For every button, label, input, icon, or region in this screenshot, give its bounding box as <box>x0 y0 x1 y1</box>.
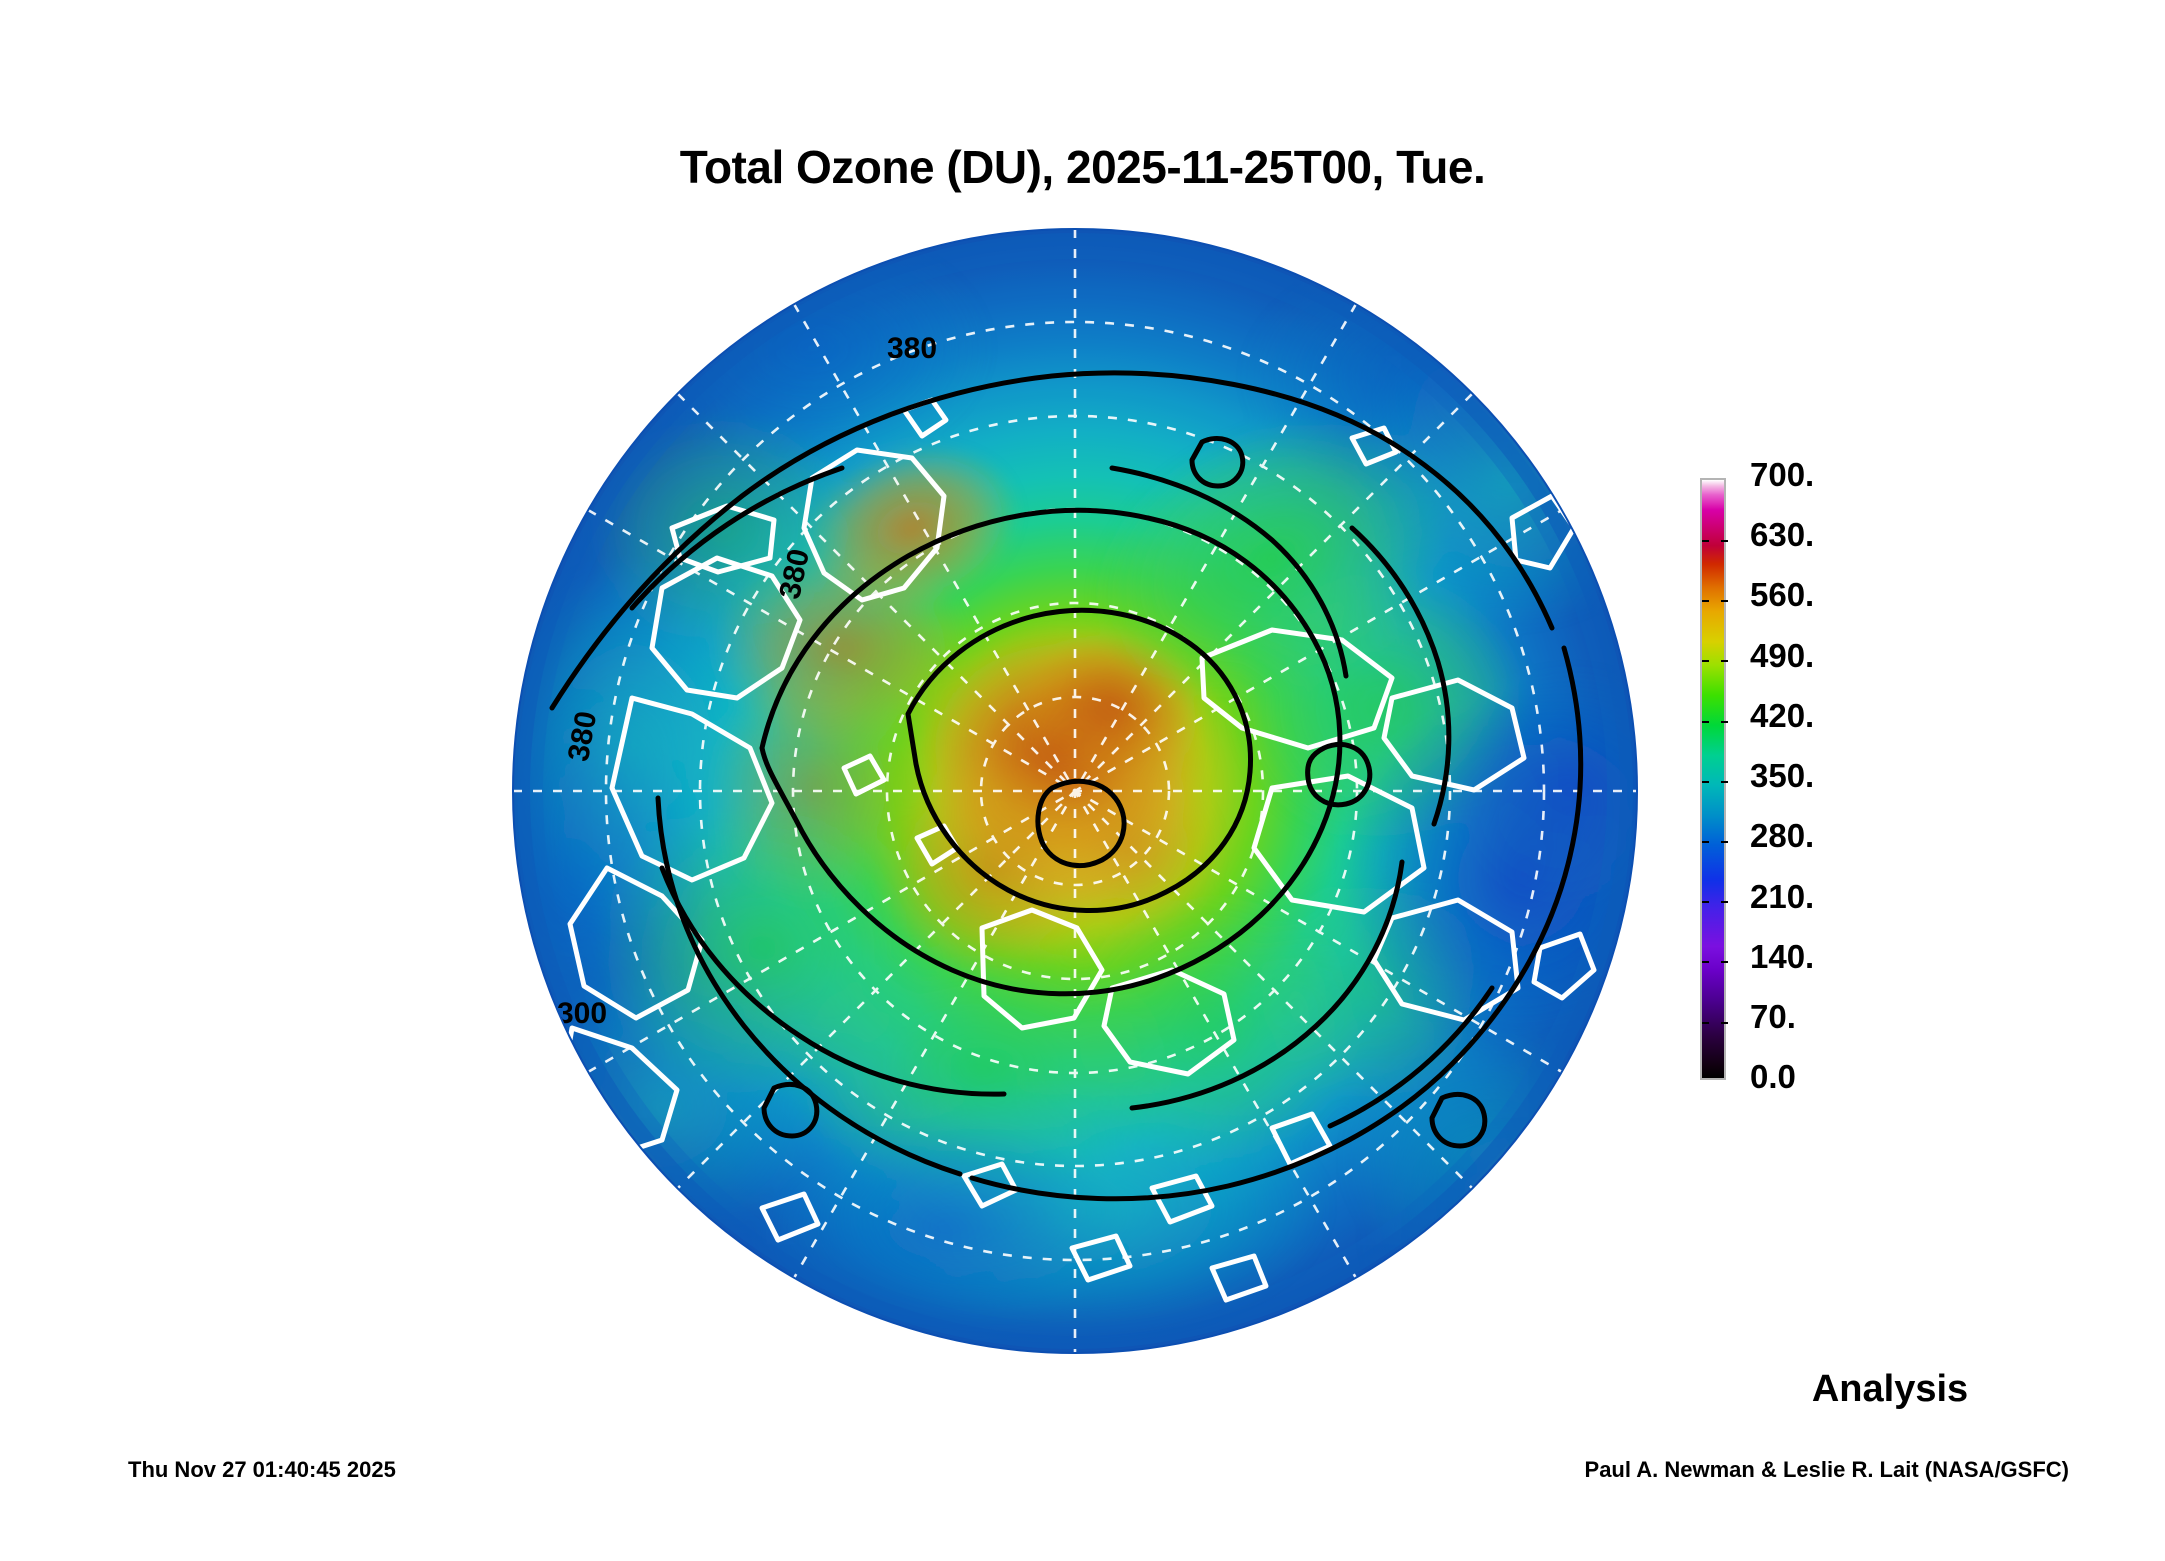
ozone-map: 300 380 380 300 380 380 300 <box>512 228 1638 1354</box>
colorbar-tick-210: 210. <box>1750 880 1814 913</box>
globe-field: 300 380 380 300 380 380 300 <box>512 228 1638 1354</box>
colorbar-tick-280: 280. <box>1750 819 1814 852</box>
colorbar-tick-490: 490. <box>1750 639 1814 672</box>
colorbar: 700. 630. 560. 490. 420. 350. 280. 210. … <box>1700 472 2120 1092</box>
credit-line: Paul A. Newman & Leslie R. Lait (NASA/GS… <box>1585 1457 2069 1483</box>
colorbar-tick-630: 630. <box>1750 518 1814 551</box>
contour-label-380-top: 380 <box>887 332 937 365</box>
colorbar-tick-70: 70. <box>1750 1000 1796 1033</box>
colorbar-tick-700: 700. <box>1750 458 1814 491</box>
colorbar-tick-140: 140. <box>1750 940 1814 973</box>
contour-label-300-top: 300 <box>797 237 847 270</box>
analysis-label: Analysis <box>1690 1368 2090 1411</box>
colorbar-tick-0: 0.0 <box>1750 1060 1796 1093</box>
colorbar-tick-350: 350. <box>1750 759 1814 792</box>
page-title: Total Ozone (DU), 2025-11-25T00, Tue. <box>0 140 2165 194</box>
colorbar-tick-420: 420. <box>1750 699 1814 732</box>
generated-timestamp: Thu Nov 27 01:40:45 2025 <box>128 1457 396 1483</box>
colorbar-tick-560: 560. <box>1750 578 1814 611</box>
colorbar-gradient <box>1700 478 1726 1080</box>
ozone-map-svg: 300 380 380 300 380 380 300 <box>512 228 1638 1354</box>
